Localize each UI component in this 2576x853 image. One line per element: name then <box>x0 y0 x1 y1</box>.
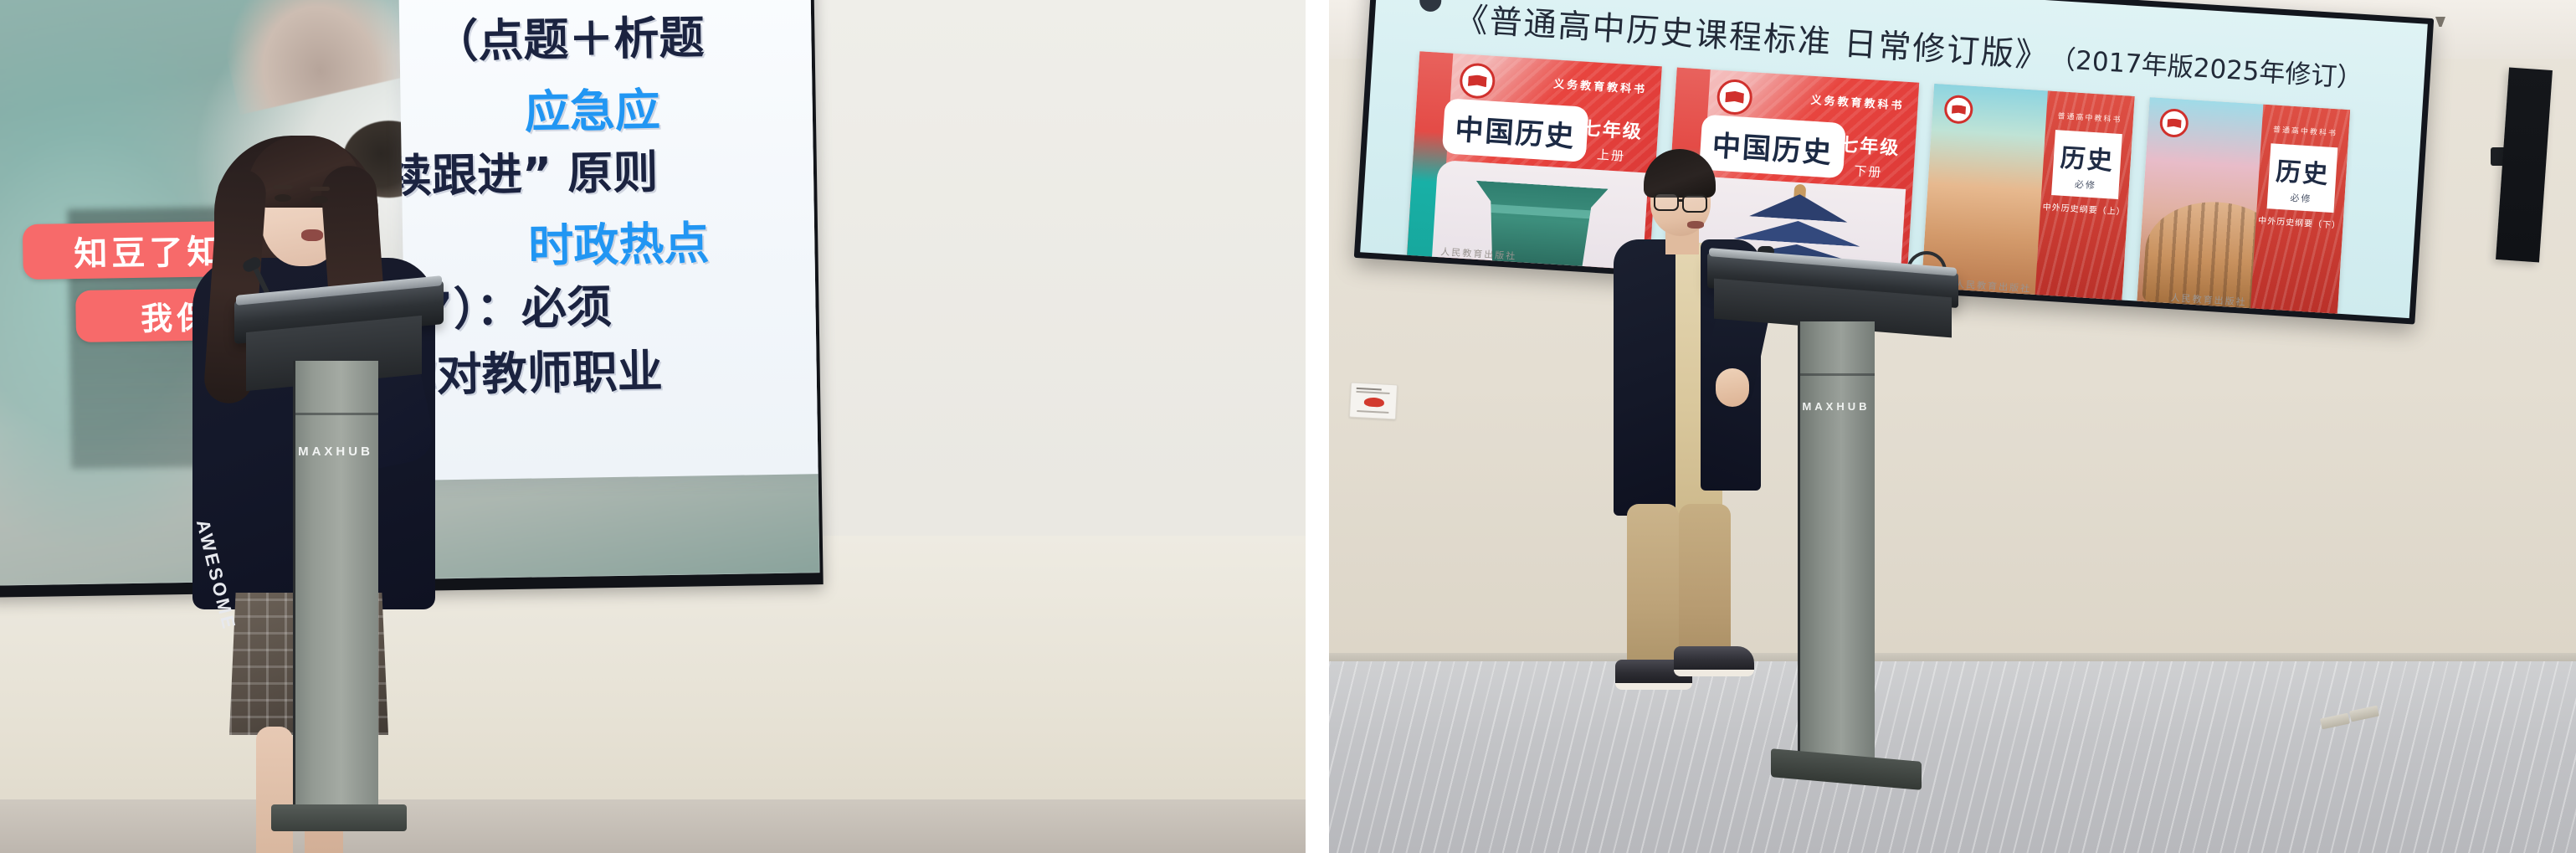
cover-title: 历史 <box>2275 150 2331 190</box>
photo-panel-right: 《普通高中历史课程标准 日常修订版》（2017年版2025年修订） 义务教育教科… <box>1329 0 2576 853</box>
wall-plate-line-2 <box>1357 391 1390 394</box>
cover-grade: 七年级 <box>1582 114 1644 144</box>
wall-plate-line-3 <box>1357 410 1388 413</box>
left-slide-text-card: 的答题模板 （点题＋析题 应急应 续跟进” 原则 时政热点 师”）：必须 你对教… <box>398 0 820 480</box>
slide-text-line-6: 师”）：必须 <box>398 265 820 339</box>
cover-title: 中国历史 <box>1454 106 1577 155</box>
hair <box>1644 149 1716 198</box>
photo-panel-left: 知豆了知豆了 我保证记住 的答题模板 （点题＋析题 应急应 续跟进” 原则 时政… <box>0 0 1306 853</box>
podium-base <box>271 804 407 831</box>
eyebrow-right <box>310 187 330 191</box>
cover-subtitle: 必修 <box>2075 177 2097 192</box>
open-book-glyph <box>1951 105 1966 115</box>
cover-grade-block: 七年级 下册 <box>1838 130 1901 182</box>
eye-left <box>275 194 291 202</box>
podium-brand-label: MAXHUB <box>1798 400 1875 413</box>
slide-text-line-4: 续跟进” 原则 <box>398 131 820 205</box>
cover-title-bubble: 中国历史 <box>1442 98 1589 162</box>
right-slide-title-suffix: （2017年版2025年修订） <box>2062 45 2364 94</box>
cover-grade: 七年级 <box>1839 130 1901 160</box>
slide-text-line-7: 你对教师职业 <box>398 330 820 404</box>
cover-subtitle: 必修 <box>2290 190 2312 205</box>
cover-title-block: 历史 必修 <box>2051 130 2122 199</box>
open-book-glyph <box>2167 118 2182 128</box>
bronze-vessel-illustration <box>1467 181 1608 275</box>
panel-gutter <box>1306 0 1329 853</box>
eyeglass-lens-left-icon <box>1654 193 1679 211</box>
textbook-cover-4: 普通高中教科书 历史 必修 中外历史纲要（下） 人民教育出版社 <box>2137 97 2350 318</box>
mouth <box>301 229 323 241</box>
eyeglass-bridge <box>1678 199 1684 202</box>
podium-brand-label: MAXHUB <box>293 444 378 459</box>
eyeglass-lens-right-icon <box>1682 194 1707 213</box>
cat-ear-icon <box>212 0 411 115</box>
podium-column <box>1798 321 1875 763</box>
cover-title-card: 普通高中教科书 历史 必修 中外历史纲要（下） <box>2250 105 2350 318</box>
podium-left: MAXHUB <box>234 280 444 853</box>
eye-right <box>311 196 328 203</box>
trouser-left <box>1627 504 1679 670</box>
cover-volume-label: 中外历史纲要（上） <box>2040 199 2128 218</box>
wall-plate-line-1 <box>1357 388 1382 391</box>
cover-volume: 下册 <box>1838 161 1899 182</box>
cover-title: 历史 <box>2060 136 2116 177</box>
cover-title-block: 历史 必修 <box>2267 143 2338 213</box>
slide-text-line-3: 应急应 <box>524 66 819 141</box>
cover-volume-label: 中外历史纲要（下） <box>2255 213 2343 231</box>
screenshot-root: 知豆了知豆了 我保证记住 的答题模板 （点题＋析题 应急应 续跟进” 原则 时政… <box>0 0 2576 853</box>
open-book-glyph <box>1468 75 1487 87</box>
cover-title-card: 普通高中教科书 历史 必修 中外历史纲要（上） <box>2035 90 2134 305</box>
wall-info-plate <box>1349 383 1398 420</box>
cover-series-label: 普通高中教科书 <box>2261 123 2349 140</box>
open-book-glyph <box>1725 90 1744 103</box>
mouth <box>1687 221 1704 229</box>
eyebrow-left <box>273 185 293 189</box>
podium-base <box>1771 748 1922 790</box>
cover-series-label: 普通高中教科书 <box>2046 109 2134 126</box>
podium-right: MAXHUB <box>1707 248 1958 853</box>
slide-text-line-5: 时政热点 <box>528 200 820 275</box>
wall-plate-logo-icon <box>1364 397 1385 407</box>
podium-column <box>293 361 378 813</box>
jacket-left-panel <box>1614 239 1675 516</box>
slide-bullet-icon <box>1419 0 1442 13</box>
slide-text-line-2: （点题＋析题 <box>433 0 820 70</box>
